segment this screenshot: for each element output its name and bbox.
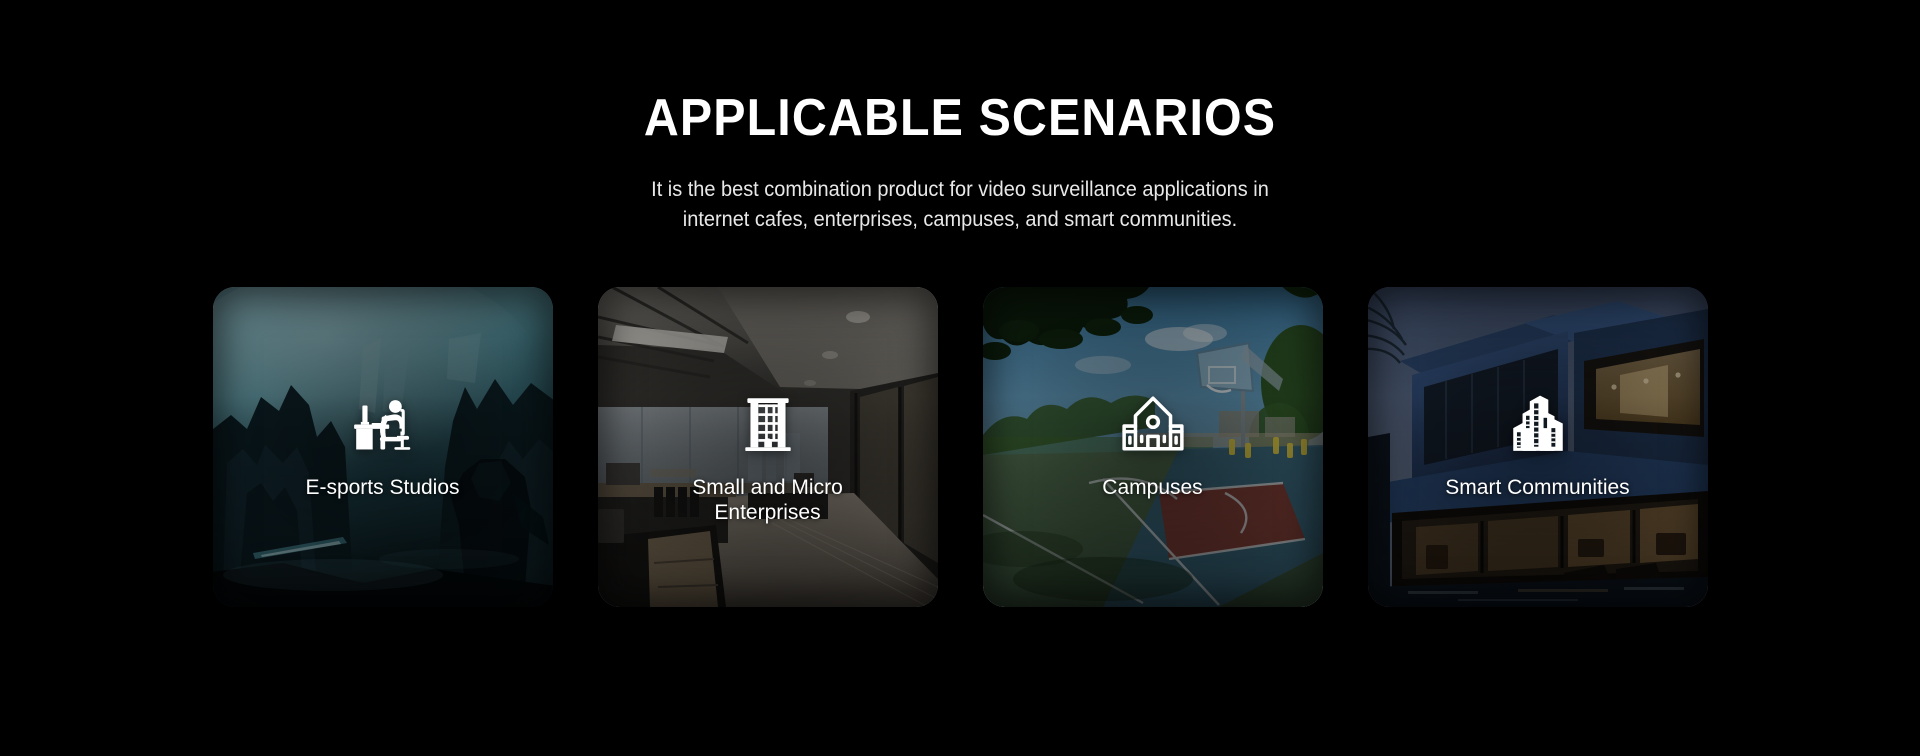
card-label-campuses: Campuses [1102,475,1202,501]
card-content: Small and Micro Enterprises [598,287,938,607]
card-content: Campuses [983,287,1323,607]
page-subtitle-line-2: internet cafes, enterprises, campuses, a… [48,205,1872,235]
card-content: Smart Communities [1368,287,1708,607]
scenario-card-small-and-micro-enterprises[interactable]: Small and Micro Enterprises [598,287,938,607]
scenario-card-row: E-sports Studios [213,287,1708,607]
card-label-e-sports-studios: E-sports Studios [305,475,459,501]
card-content: E-sports Studios [213,287,553,607]
card-label-smart-communities: Smart Communities [1445,475,1629,501]
page-subtitle-line-1: It is the best combination product for v… [48,175,1872,205]
scenario-card-campuses[interactable]: Campuses [983,287,1323,607]
office-building-icon [735,391,801,457]
page-subtitle: It is the best combination product for v… [48,175,1872,235]
heading-block: APPLICABLE SCENARIOS It is the best comb… [0,92,1920,235]
page-title: APPLICABLE SCENARIOS [67,92,1853,144]
school-building-icon [1120,391,1186,457]
applicable-scenarios-section: APPLICABLE SCENARIOS It is the best comb… [0,0,1920,756]
scenario-card-smart-communities[interactable]: Smart Communities [1368,287,1708,607]
city-skyline-icon [1505,391,1571,457]
person-at-desk-icon [350,391,416,457]
card-label-small-and-micro-enterprises: Small and Micro Enterprises [692,475,843,526]
scenario-card-e-sports-studios[interactable]: E-sports Studios [213,287,553,607]
